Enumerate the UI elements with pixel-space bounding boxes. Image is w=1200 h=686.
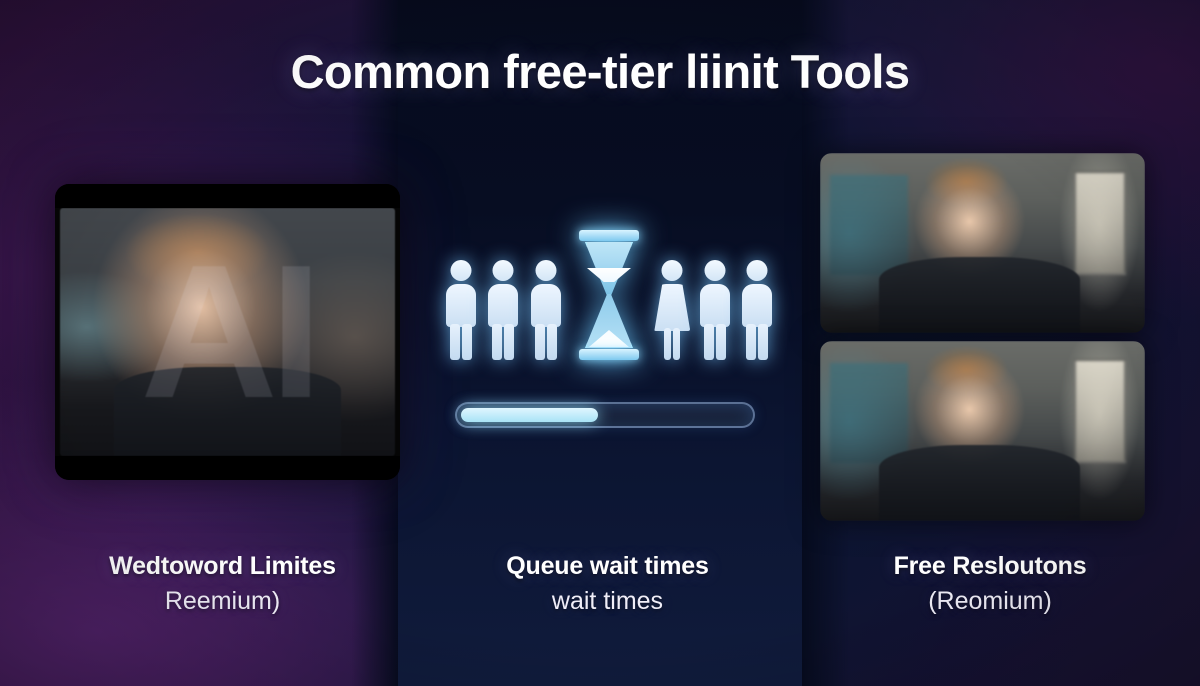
background-shelf xyxy=(830,175,908,276)
person-leg-left xyxy=(746,324,756,360)
caption-left-title: Wedtoword Limites xyxy=(20,552,425,581)
person-leg-left xyxy=(664,328,671,360)
person-leg-left xyxy=(704,324,714,360)
person-icon xyxy=(740,260,774,360)
person-body xyxy=(654,284,690,331)
hourglass-cap-top xyxy=(579,230,639,241)
caption-right-title: Free Resloutons xyxy=(800,552,1180,581)
hourglass-cap-bottom xyxy=(579,349,639,360)
person-icon xyxy=(698,260,732,360)
person-leg-right xyxy=(758,324,768,360)
letterbox-bar-top xyxy=(55,184,400,208)
caption-left-subtitle: Reemium) xyxy=(20,587,425,616)
caption-center: Queue wait times wait times xyxy=(420,552,795,616)
person-body xyxy=(742,284,772,327)
background-window xyxy=(1074,171,1126,275)
person-leg-right xyxy=(716,324,726,360)
caption-right-subtitle: (Reomium) xyxy=(800,587,1180,616)
person-head xyxy=(451,260,472,281)
caption-left: Wedtoword Limites Reemium) xyxy=(20,552,425,616)
person-leg-right xyxy=(547,324,557,360)
video-thumbnail-top[interactable] xyxy=(820,153,1145,333)
thumbnail-still-image xyxy=(820,153,1145,333)
thumbnail-still-image xyxy=(820,341,1145,521)
person-head xyxy=(746,260,767,281)
person-head xyxy=(493,260,514,281)
background-window xyxy=(1074,359,1126,463)
person-leg-right xyxy=(673,328,680,360)
subject-torso xyxy=(879,257,1081,333)
caption-right: Free Resloutons (Reomium) xyxy=(800,552,1180,616)
person-icon xyxy=(444,260,478,360)
caption-center-title: Queue wait times xyxy=(420,552,795,581)
person-body xyxy=(700,284,730,327)
person-leg-right xyxy=(462,324,472,360)
hourglass-lower-bulb xyxy=(585,294,633,348)
queue-progress-fill xyxy=(461,408,598,422)
person-head xyxy=(704,260,725,281)
person-icon xyxy=(486,260,520,360)
video-thumbnail-bottom[interactable] xyxy=(820,341,1145,521)
person-leg-left xyxy=(492,324,502,360)
person-body xyxy=(531,284,561,327)
person-leg-left xyxy=(450,324,460,360)
person-head xyxy=(662,260,683,281)
ai-watermark-text: AI xyxy=(60,208,395,456)
caption-center-subtitle: wait times xyxy=(420,587,795,616)
letterbox-bar-bottom xyxy=(55,456,400,480)
page-title: Common free-tier liinit Tools xyxy=(0,44,1200,99)
person-leg-right xyxy=(504,324,514,360)
subject-torso xyxy=(879,445,1081,521)
hourglass-upper-sand xyxy=(587,268,631,282)
slide-canvas: Common free-tier liinit Tools AI xyxy=(0,0,1200,686)
person-leg-left xyxy=(535,324,545,360)
queue-people-row xyxy=(444,240,774,360)
video-still-image: AI xyxy=(60,208,395,456)
hourglass-icon xyxy=(579,230,639,360)
person-icon-female xyxy=(655,260,689,360)
person-body xyxy=(488,284,518,327)
background-shelf xyxy=(830,363,908,464)
person-body xyxy=(446,284,476,327)
queue-progress-bar[interactable] xyxy=(455,402,755,428)
person-icon xyxy=(529,260,563,360)
hourglass-upper-bulb xyxy=(585,242,633,296)
video-player-frame[interactable]: AI xyxy=(55,184,400,480)
person-head xyxy=(535,260,556,281)
